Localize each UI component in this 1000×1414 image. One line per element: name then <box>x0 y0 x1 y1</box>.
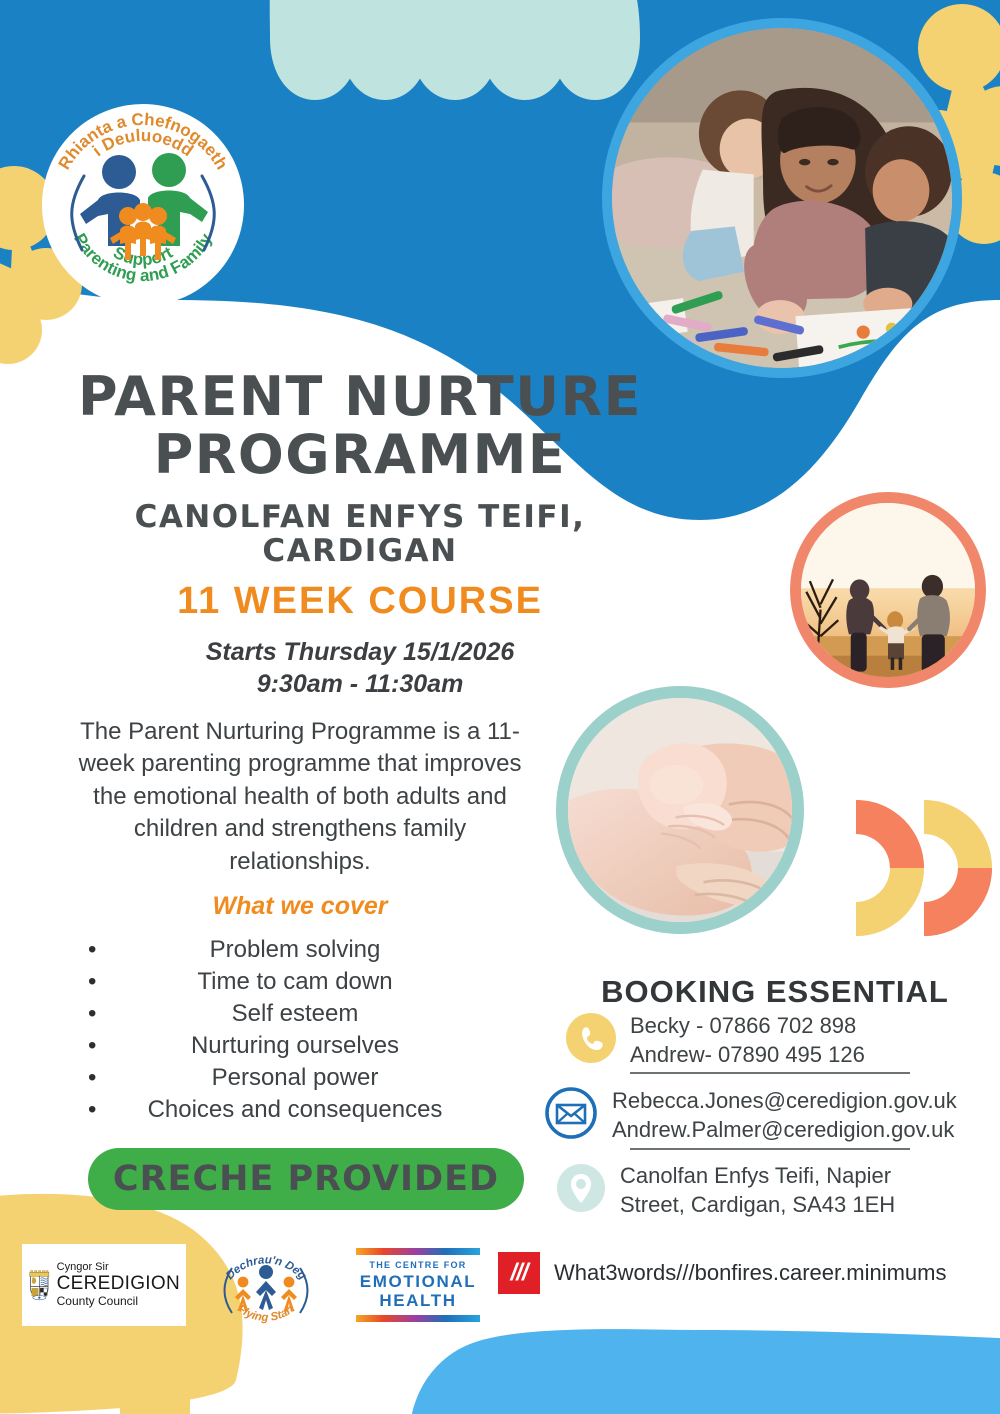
flying-start-logo: Dechrau'n Deg Flying Start <box>212 1238 320 1342</box>
ceredigion-council-logo: Cyngor Sir CEREDIGION County Council <box>22 1244 186 1326</box>
council-line2: CEREDIGION <box>57 1274 180 1295</box>
programme-description: The Parent Nurturing Programme is a 11-w… <box>60 716 540 878</box>
email-line: Rebecca.Jones@ceredigion.gov.uk <box>612 1087 957 1116</box>
divider-email-location <box>630 1148 910 1150</box>
council-name: Cyngor Sir CEREDIGION County Council <box>57 1262 180 1307</box>
start-date-line: Starts Thursday 15/1/2026 <box>40 636 680 668</box>
list-item: Nurturing ourselves <box>60 1030 530 1062</box>
centre-for-emotional-health-logo: THE CENTRE FOR EMOTIONAL HEALTH <box>356 1248 480 1330</box>
teardrop-decorations <box>270 0 640 100</box>
phone-icon <box>566 1013 616 1068</box>
schedule-block: Starts Thursday 15/1/2026 9:30am - 11:30… <box>40 636 680 700</box>
list-item: Choices and consequences <box>60 1094 530 1126</box>
course-length-heading: 11 WEEK COURSE <box>40 580 680 623</box>
creche-provided-banner: CRECHE PROVIDED <box>88 1148 524 1210</box>
photo-1-art <box>612 28 952 368</box>
quote-arcs-decoration <box>856 800 992 936</box>
logo-art: Rhianta a Chefnogaeth i Deuluoedd Parent… <box>42 104 244 306</box>
photo-family-sunset-silhouette <box>790 492 986 688</box>
what3words-slashes: /// <box>510 1259 527 1287</box>
email-line: Andrew.Palmer@ceredigion.gov.uk <box>612 1116 957 1145</box>
ceh-line2: EMOTIONAL <box>356 1272 480 1291</box>
list-item: Personal power <box>60 1062 530 1094</box>
council-line3: County Council <box>57 1295 180 1308</box>
council-crest-icon <box>28 1250 51 1320</box>
location-address: Canolfan Enfys Teifi, Napier Street, Car… <box>620 1162 895 1219</box>
email-addresses: Rebecca.Jones@ceredigion.gov.uk Andrew.P… <box>612 1087 957 1144</box>
phone-numbers: Becky - 07866 702 898 Andrew- 07890 495 … <box>630 1012 865 1069</box>
photo-3-art <box>568 698 792 922</box>
flying-start-art: Dechrau'n Deg Flying Start <box>212 1238 320 1342</box>
what3words-icon: /// <box>498 1252 540 1294</box>
list-item: Time to cam down <box>60 966 530 998</box>
contact-email-row: Rebecca.Jones@ceredigion.gov.uk Andrew.P… <box>544 1086 957 1145</box>
parenting-family-support-logo: Rhianta a Chefnogaeth i Deuluoedd Parent… <box>42 104 244 306</box>
venue-subtitle: CANOLFAN ENFYS TEIFI, CARDIGAN <box>40 500 680 568</box>
list-item: Problem solving <box>60 934 530 966</box>
photo-2-art <box>801 503 975 677</box>
photo-parent-children-drawing <box>602 18 962 378</box>
contact-location-row: Canolfan Enfys Teifi, Napier Street, Car… <box>556 1162 895 1219</box>
what3words-address: What3words///bonfires.career.minimums <box>554 1260 946 1286</box>
what3words-block: /// What3words///bonfires.career.minimum… <box>498 1252 946 1294</box>
creche-banner-label: CRECHE PROVIDED <box>113 1159 499 1199</box>
footer-logos: Cyngor Sir CEREDIGION County Council Dec… <box>0 1238 1000 1358</box>
what-we-cover-list: Problem solving Time to cam down Self es… <box>60 934 530 1125</box>
map-pin-icon <box>556 1163 606 1218</box>
time-line: 9:30am - 11:30am <box>40 668 680 700</box>
photo-hands-together <box>556 686 804 934</box>
phone-line: Andrew- 07890 495 126 <box>630 1041 865 1070</box>
phone-line: Becky - 07866 702 898 <box>630 1012 865 1041</box>
ceh-gradient-bar-top <box>356 1248 480 1255</box>
divider-phone-email <box>630 1072 910 1074</box>
poster-canvas: Rhianta a Chefnogaeth i Deuluoedd Parent… <box>0 0 1000 1414</box>
ceh-line3: HEALTH <box>356 1291 480 1310</box>
ceh-gradient-bar-bottom <box>356 1315 480 1322</box>
what-we-cover-heading: What we cover <box>60 892 540 921</box>
list-item: Self esteem <box>60 998 530 1030</box>
contact-phone-row: Becky - 07866 702 898 Andrew- 07890 495 … <box>566 1012 865 1069</box>
envelope-icon <box>544 1086 598 1145</box>
address-line: Canolfan Enfys Teifi, Napier <box>620 1162 895 1191</box>
ceh-line1: THE CENTRE FOR <box>356 1260 480 1270</box>
page-title: PARENT NURTURE PROGRAMME <box>40 368 680 484</box>
address-line: Street, Cardigan, SA43 1EH <box>620 1191 895 1220</box>
booking-essential-heading: BOOKING ESSENTIAL <box>560 974 990 1010</box>
